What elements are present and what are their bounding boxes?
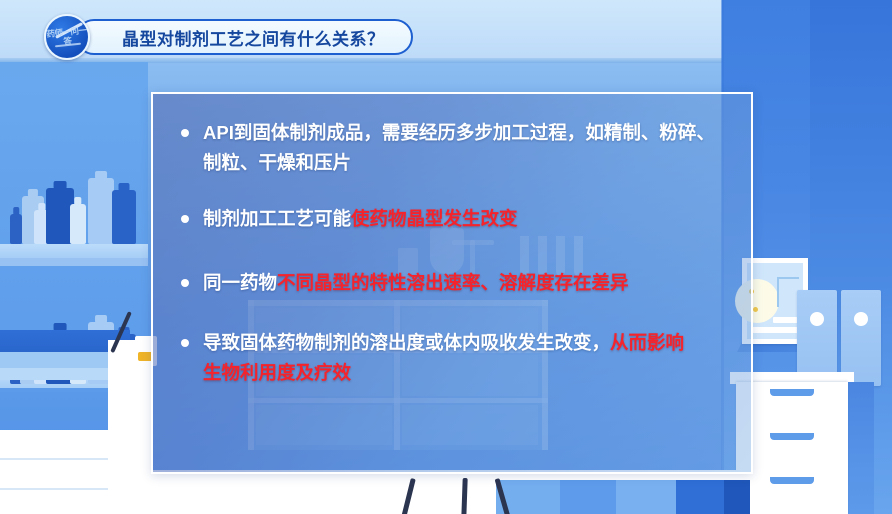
title-pill: 晶型对制剂工艺之间有什么关系？ [76,19,413,55]
left-white-column [108,340,152,514]
bullet-3-plain: 同一药物 [203,272,277,293]
drawer-handle[interactable] [770,433,814,440]
bullet-item-4: 导致固体药物制剂的溶出度或体内吸收发生改变，从而影响生物利用度及疗效 [181,328,729,388]
bullet-dot-icon [181,215,189,223]
content-panel-body: API到固体制剂成品，需要经历多步加工过程，如精制、粉碎、 制粒、干燥和压片 制… [181,118,729,410]
cabinet-seam [0,458,120,460]
bullet-2-highlight: 使药物晶型发生改变 [351,208,518,229]
left-bench-mid [0,352,118,368]
bullet-3-text: 同一药物不同晶型的特性溶出速率、溶解度存在差异 [203,268,629,298]
bullet-4-plain: 导致固体药物制剂的溶出度或体内吸收发生改变， [203,332,610,353]
poster-line [777,277,779,307]
program-badge-icon: 药师一问一答 [44,14,90,60]
bottom-left-cabinet [0,430,120,514]
slide-canvas: API到固体制剂成品，需要经历多步加工过程，如精制、粉碎、 制粒、干燥和压片 制… [0,0,892,514]
bullet-1-line-2: 制粒、干燥和压片 [203,152,351,173]
bullet-2-text: 制剂加工工艺可能使药物晶型发生改变 [203,204,518,234]
bullet-dot-icon [181,339,189,347]
shelf-bottle [88,178,114,244]
poster-bar [773,317,799,323]
bench-panel [616,480,676,514]
shelf-bottle [10,214,22,244]
shelf-board-upper [0,244,148,258]
poster-dot [753,307,758,312]
bullet-3-highlight: 不同晶型的特性溶出速率、溶解度存在差异 [277,272,629,293]
shelf-bottle [70,204,86,244]
bench-panel [148,480,320,514]
poster-line [777,277,799,279]
poster-bar [752,327,799,333]
bullet-2-plain: 制剂加工工艺可能 [203,208,351,229]
drawer-handle[interactable] [770,477,814,484]
bench-panel [676,480,724,514]
binder-ring-hole [810,312,824,326]
bench-panel [724,480,750,514]
binder-ring-hole [854,312,868,326]
poster-inner [747,263,803,339]
bullet-item-1: API到固体制剂成品，需要经历多步加工过程，如精制、粉碎、 制粒、干燥和压片 [181,118,729,178]
bullet-item-2: 制剂加工工艺可能使药物晶型发生改变 [181,204,729,234]
drawer-cabinet-side [848,382,874,514]
drawer[interactable] [736,470,848,514]
bullet-dot-icon [181,129,189,137]
bullet-item-3: 同一药物不同晶型的特性溶出速率、溶解度存在差异 [181,268,729,298]
bullet-1-line-1: API到固体制剂成品，需要经历多步加工过程，如精制、粉碎、 [203,122,715,143]
bullet-4-highlight-2: 生物利用度及疗效 [203,362,351,383]
bullet-1-text: API到固体制剂成品，需要经历多步加工过程，如精制、粉碎、 制粒、干燥和压片 [203,118,715,178]
bench-divider [356,480,361,514]
drawer-handle[interactable] [770,389,814,396]
left-bench-low [0,368,118,380]
page-title: 晶型对制剂工艺之间有什么关系？ [122,25,385,50]
badge-label: 药师一问一答 [44,14,90,60]
content-panel: API到固体制剂成品，需要经历多步加工过程，如精制、粉碎、 制粒、干燥和压片 制… [151,92,753,474]
bench-panel [560,480,616,514]
bullet-4-highlight-1: 从而影响 [610,332,684,353]
bullet-4-text: 导致固体药物制剂的溶出度或体内吸收发生改变，从而影响生物利用度及疗效 [203,328,684,388]
cabinet-seam [0,488,120,490]
shelf-bottle [112,190,136,244]
bench-divider [270,480,275,514]
bullet-dot-icon [181,279,189,287]
shelf-gap-upper [0,258,148,266]
